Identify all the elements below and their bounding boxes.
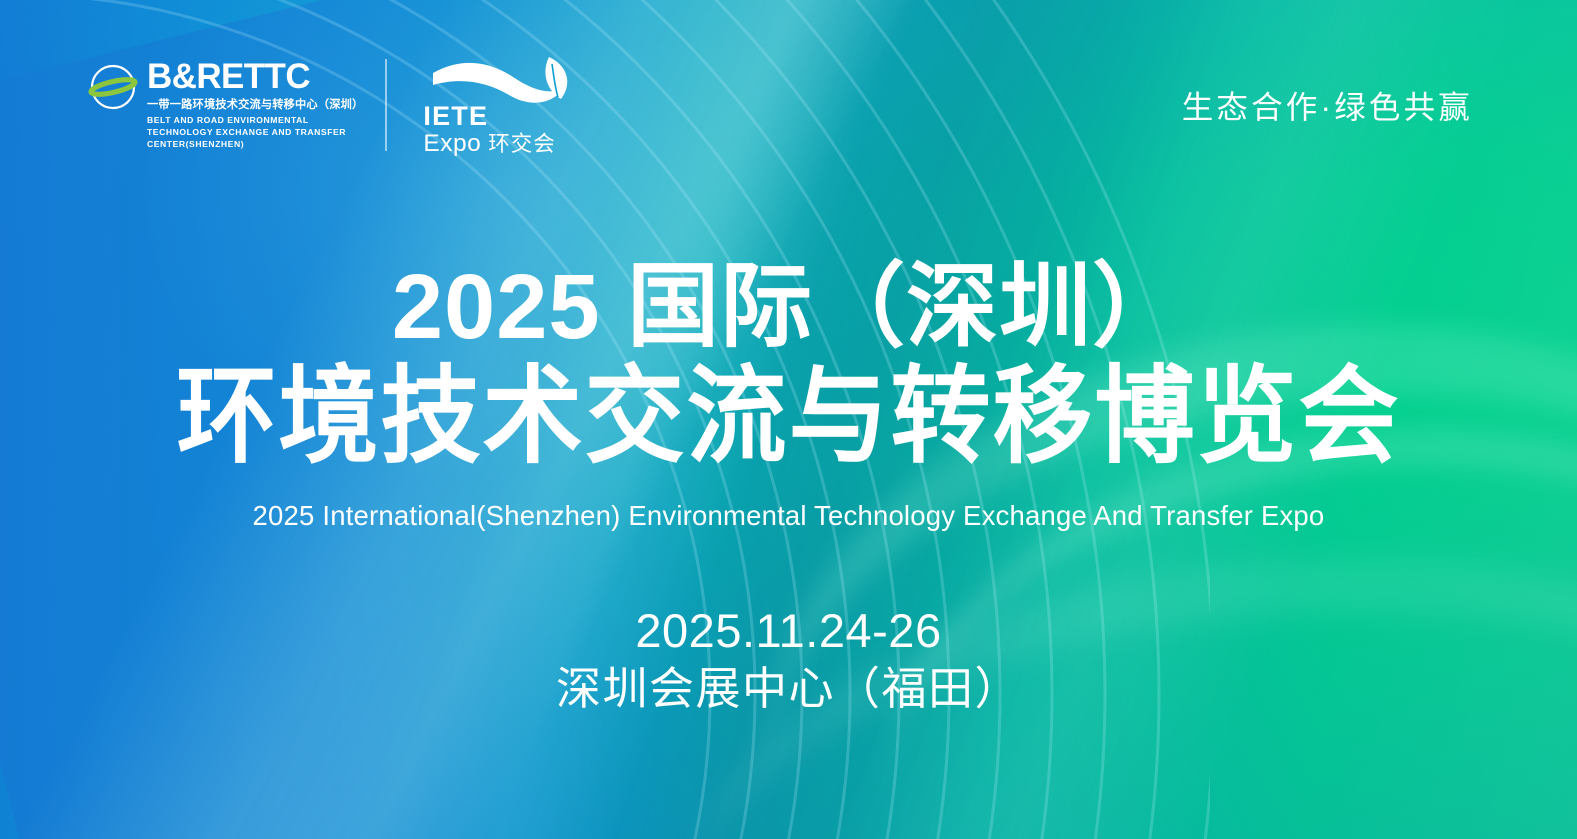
- event-venue: 深圳会展中心（福田）: [0, 661, 1577, 717]
- iete-expo-label: Expo: [423, 132, 481, 157]
- header-slogan: 生态合作·绿色共赢: [1182, 82, 1473, 128]
- iete-wordmark: IETE Expo 环交会: [423, 103, 555, 157]
- iete-line2-row: Expo 环交会: [423, 132, 555, 157]
- iete-line1: IETE: [423, 103, 555, 130]
- logo-cluster: B&RETTC 一带一路环境技术交流与转移中心（深圳） BELT AND ROA…: [88, 55, 583, 155]
- globe-ring-icon: [88, 62, 138, 117]
- hero-title-block: 2025 国际（深圳） 环境技术交流与转移博览会 2025 Internatio…: [0, 258, 1577, 532]
- iete-expo-logo: IETE Expo 环交会: [423, 55, 583, 155]
- brettc-chinese-name: 一带一路环境技术交流与转移中心（深圳）: [147, 98, 363, 112]
- subtitle-english: 2025 International(Shenzhen) Environment…: [0, 500, 1577, 532]
- brettc-english-name: BELT AND ROAD ENVIRONMENTAL TECHNOLOGY E…: [147, 114, 352, 151]
- title-line-1: 2025 国际（深圳）: [0, 258, 1577, 356]
- brettc-wordmark: B&RETTC: [147, 59, 363, 95]
- expo-banner: B&RETTC 一带一路环境技术交流与转移中心（深圳） BELT AND ROA…: [0, 0, 1577, 839]
- brettc-logo: B&RETTC 一带一路环境技术交流与转移中心（深圳） BELT AND ROA…: [88, 59, 387, 150]
- title-line-2: 环境技术交流与转移博览会: [0, 359, 1577, 476]
- brettc-text-block: B&RETTC 一带一路环境技术交流与转移中心（深圳） BELT AND ROA…: [147, 59, 363, 150]
- event-date: 2025.11.24-26: [0, 602, 1577, 659]
- banner-header: B&RETTC 一带一路环境技术交流与转移中心（深圳） BELT AND ROA…: [0, 0, 1577, 210]
- event-meta-block: 2025.11.24-26 深圳会展中心（福田）: [0, 602, 1577, 718]
- iete-chinese-label: 环交会: [488, 134, 556, 156]
